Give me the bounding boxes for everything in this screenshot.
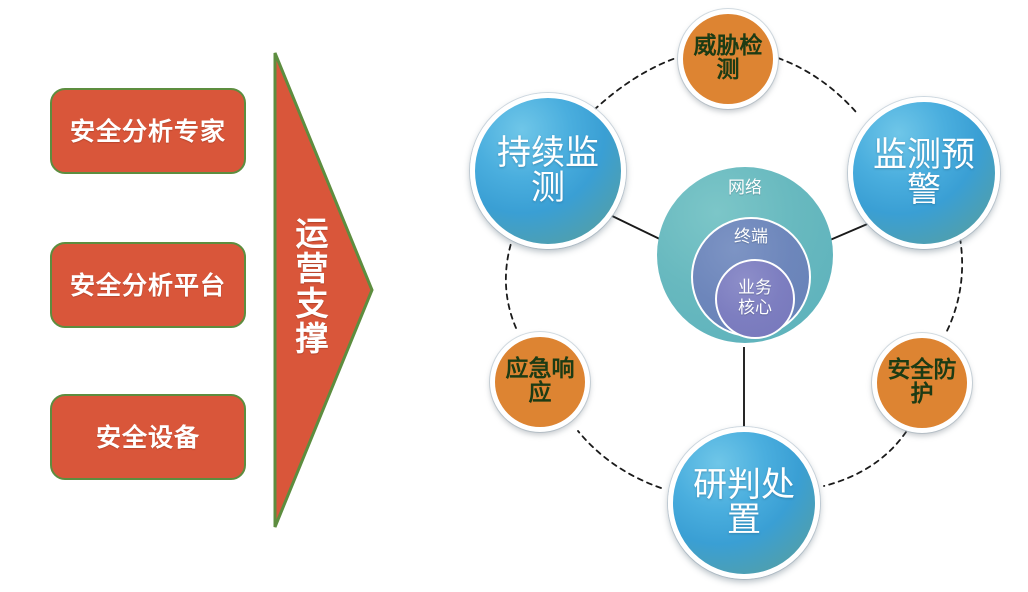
arc-monitor-to-threat [594, 58, 676, 110]
arc-emergency-to-monitor [506, 240, 516, 328]
node-security-protection[interactable]: 安全防护 [872, 333, 972, 433]
core-ring-label: 业务核心 [732, 279, 778, 318]
core-ring-label: 网络 [728, 167, 762, 199]
node-label: 监测预警 [853, 138, 995, 209]
left-box-label: 安全分析平台 [70, 273, 226, 298]
node-label: 研判处置 [673, 468, 815, 539]
node-emergency-response[interactable]: 应急响应 [490, 332, 590, 432]
arrow-label: 运营支撑 [286, 216, 326, 356]
diagram-canvas: 安全分析专家 安全分析平台 安全设备 运营支撑 [0, 0, 1028, 592]
arc-threat-to-warning [778, 58, 856, 112]
node-analysis-disposal[interactable]: 研判处置 [668, 427, 820, 579]
node-label: 安全防护 [877, 359, 967, 407]
left-box-security-analyst[interactable]: 安全分析专家 [50, 88, 246, 174]
node-label: 持续监测 [475, 136, 621, 207]
node-monitoring-warning[interactable]: 监测预警 [848, 97, 1000, 249]
node-label: 威胁检测 [683, 35, 773, 83]
left-box-label: 安全设备 [96, 425, 200, 450]
left-box-security-device[interactable]: 安全设备 [50, 394, 246, 480]
node-label: 应急响应 [495, 358, 585, 406]
left-box-label: 安全分析专家 [70, 119, 226, 144]
arc-disposal-to-emergency [578, 431, 661, 488]
core-ring-business-core[interactable]: 业务核心 [715, 259, 795, 339]
arc-protection-to-disposal [824, 432, 906, 486]
left-box-security-analysis-platform[interactable]: 安全分析平台 [50, 242, 246, 328]
core-ring-label: 终端 [734, 219, 768, 248]
operations-support-arrow[interactable]: 运营支撑 [268, 46, 380, 534]
core-concentric-group: 网络 终端 业务核心 [657, 167, 833, 343]
arc-warning-to-protection [946, 238, 962, 333]
node-threat-detection[interactable]: 威胁检测 [678, 9, 778, 109]
node-continuous-monitoring[interactable]: 持续监测 [470, 93, 626, 249]
